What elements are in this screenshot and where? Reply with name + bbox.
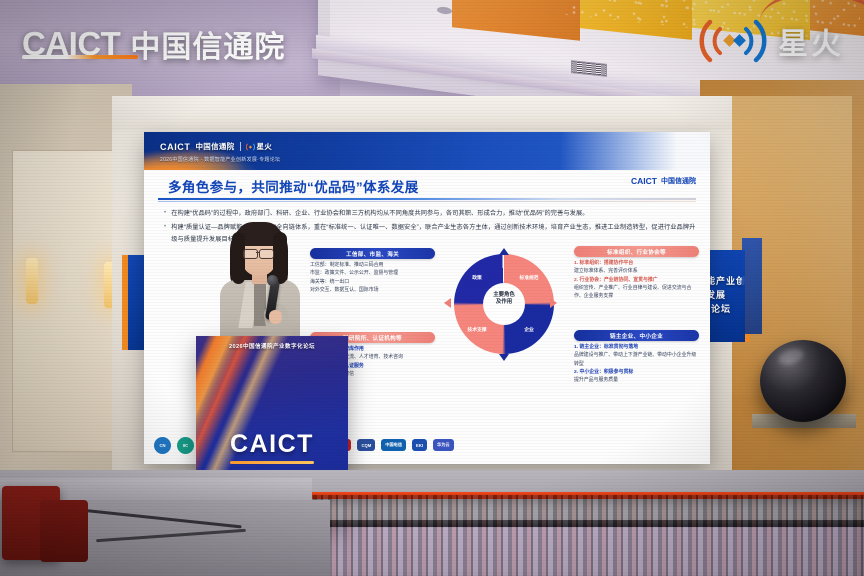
donut-segment-label-standards: 标准规范 [512,274,546,281]
callout-line: 建立标准体系、完善评价体系 [574,268,699,276]
callout-header: 标准组织、行业协会等 [574,246,699,257]
bullet-dot-icon: • [164,208,166,219]
callout-bottom-right: 链主企业、中小企业 1. 链主企业：标准贯彻与落地 品牌建设与推广、带动上下游产… [574,330,699,386]
sponsor-logo: CN [154,437,171,454]
callout-top-left: 工信部、市监、海关 工信部：制定标准、推动三码合用 市监：政策文件、公示公开、监… [310,248,435,295]
bullet-dot-icon: • [164,222,166,245]
callout-line: 1. 标准组织：搭建协作平台 [574,260,699,268]
donut-center-label: 主要角色 及作用 [483,292,525,306]
callout-top-right: 标准组织、行业协会等 1. 标准组织：搭建协作平台 建立标准体系、完善评价体系 … [574,246,699,302]
speaker-hand [269,310,282,324]
donut-arrow-right-icon [550,298,557,308]
sponsor-logo: 中国电信 [381,439,406,451]
slide-band-logo-chinese: 中国信通院 [196,141,235,152]
speaker-person [212,218,308,348]
title-divider-accent [158,201,696,202]
speaker-glasses-icon [259,249,274,259]
callout-line: 2. 中小企业：积极参与贯标 [574,369,699,377]
podium-logo-underline [230,461,314,464]
role-donut-diagram: 主要角色 及作用 政策 标准规范 企业 技术支撑 [440,244,568,384]
donut-arrow-left-icon [444,298,451,308]
donut-segment-label-policy: 政策 [460,274,494,281]
callout-line: 2. 行业协会：产业链协同、宣贯与推广 [574,277,699,285]
donut-segment-label-tech: 技术支撑 [460,326,494,333]
slide-corner-logo: CAICT 中国信通院 [631,176,696,186]
red-chair [40,500,88,562]
podium-logo-latin: CAICT [196,430,348,459]
band-fade-overlay [560,132,710,170]
band-divider [240,142,241,151]
callout-line: 海关等：统一出口 [310,279,435,287]
callout-line: 对外交互、数据互认、国际市场 [310,287,435,295]
callout-line: 组织宣传、产业推广、行业自律与建设、促进交流与合作、企业服务支撑 [574,285,699,302]
callout-line: 市监：政策文件、公示公开、监督与管理 [310,270,435,278]
slide-corner-logo-chinese: 中国信通院 [661,176,696,186]
sponsor-logo: CQM [357,439,375,451]
donut-segment-label-enterprise: 企业 [512,326,546,333]
backdrop-panel-right-edge [742,238,762,334]
callout-line: 品牌建设与推广、带动上下游产业链、带动中小企业升级转型 [574,352,699,369]
caict-watermark-underline [22,55,138,59]
sponsor-logo: EKI [412,439,427,451]
slide-band-spark-text: 星火 [257,141,273,152]
podium-event-title: 2026中国信通院产业数字化论坛 [196,342,348,350]
slide-band-spark-logo: 星火 [246,141,273,152]
callout-line: 工信部：制定标准、推动三码合用 [310,262,435,270]
conference-photo-scene: 数据智能产 专题论 数据智能产业创新发展 专题论坛 CAICT 中国信通院 [0,0,864,576]
callout-line: 1. 链主企业：标准贯彻与落地 [574,344,699,352]
signal-wave-icon [246,143,255,151]
slide-header-band: CAICT 中国信通院 星火 2026中国信通院 · 数据智能产业创新发展·专题… [144,132,710,170]
donut-center-line1: 主要角色 [483,292,525,299]
callout-line: 提升产品与服务质量 [574,377,699,385]
callout-body: 1. 链主企业：标准贯彻与落地 品牌建设与推广、带动上下游产业链、带动中小企业升… [574,344,699,386]
sponsor-logo: 华为云 [433,439,454,451]
stage-skirt [306,495,864,576]
donut-center-line2: 及作用 [483,299,525,306]
callout-body: 1. 标准组织：搭建协作平台 建立标准体系、完善评价体系 2. 行业协会：产业链… [574,260,699,302]
callout-header: 链主企业、中小企业 [574,330,699,341]
slide-band-subtitle: 2026中国信通院 · 数据智能产业创新发展·专题论坛 [160,156,280,163]
slide-corner-logo-latin: CAICT [631,176,657,186]
donut-arrow-bottom-icon [499,354,509,361]
slide-title: 多角色参与，共同推动“优品码”体系发展 [168,176,419,196]
title-divider [158,198,696,200]
slide-band-logo: CAICT 中国信通院 星火 [160,141,272,152]
slide-band-logo-latin: CAICT [160,142,191,152]
sponsor-logo: IIC [177,437,194,454]
callout-header: 工信部、市监、海关 [310,248,435,259]
speaker-glasses-icon [243,249,258,259]
speaker-glasses-bridge [256,252,260,253]
donut-arrow-top-icon [499,248,509,255]
stage-backdrop-header [112,96,732,130]
callout-body: 工信部：制定标准、推动三码合用 市监：政策文件、公示公开、监督与管理 海关等：统… [310,262,435,295]
wall-sconce-icon [26,258,38,304]
